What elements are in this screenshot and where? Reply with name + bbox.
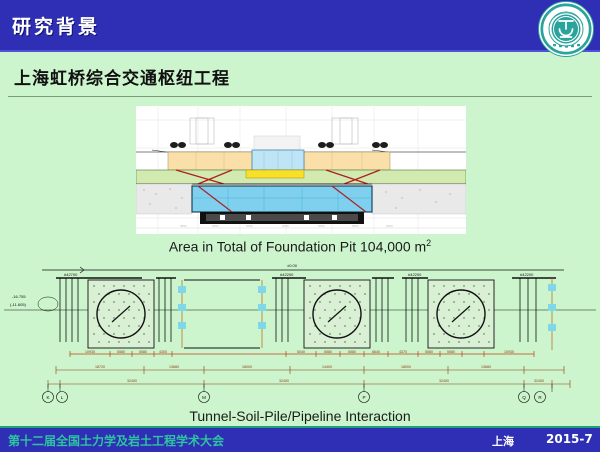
cad-dim-l2: 5580 <box>117 350 125 354</box>
cad-level-label: ±0.00 <box>287 263 298 268</box>
svg-text:6000: 6000 <box>386 224 393 228</box>
svg-text:4500: 4500 <box>180 224 187 228</box>
cad-grid-bubble-5: Q <box>522 395 526 400</box>
svg-text:6000: 6000 <box>318 224 325 228</box>
cad-dim-f4: 10935 <box>504 350 514 354</box>
svg-text:6000: 6000 <box>246 224 253 228</box>
title-divider <box>8 96 592 97</box>
cad-total-4: 32400 <box>534 379 544 383</box>
cad-grid-bubble-3: M <box>202 395 206 400</box>
cad-total-1: 32400 <box>127 379 137 383</box>
slide-heading: 上海虹桥综合交通枢纽工程 <box>14 64 230 89</box>
svg-text:6000: 6000 <box>282 224 289 228</box>
tunnel-soil-pile-cad-section: ±0.00 -16.755 (-11.605) #42700 <box>4 258 596 406</box>
cad-dim-f1: 4370 <box>399 350 407 354</box>
cad-wall-label-2: #42200 <box>280 272 294 277</box>
cad-dim-r4: 6640 <box>372 350 380 354</box>
cad-dim-l3: 5580 <box>139 350 147 354</box>
cad-wall-label-3: #42200 <box>408 272 422 277</box>
figure-caption-top: Area in Total of Foundation Pit 104,000 … <box>0 238 600 255</box>
svg-text:6000: 6000 <box>212 224 219 228</box>
cad-span-4: 14400 <box>322 365 332 369</box>
foundation-pit-cross-section-render: 45006000 60006000 60006000 6000 <box>136 106 466 234</box>
cad-dim-f2: 5580 <box>425 350 433 354</box>
slide-root: 研究背景 上海虹桥综合交通枢纽工程 <box>0 0 600 452</box>
caption-top-text: Area in Total of Foundation Pit 104,000 … <box>169 239 426 255</box>
svg-text:6000: 6000 <box>352 224 359 228</box>
cad-dim-l1: 10935 <box>85 350 95 354</box>
cad-dim-r2: 5580 <box>324 350 332 354</box>
cad-span-5: 18000 <box>401 365 411 369</box>
university-seal-icon <box>538 1 594 57</box>
cad-elevation-1: -16.755 <box>12 294 26 299</box>
cad-span-6: 13680 <box>481 365 491 369</box>
cad-span-1: 18720 <box>95 365 105 369</box>
cad-dim-f3: 5580 <box>447 350 455 354</box>
cad-total-3: 32400 <box>439 379 449 383</box>
figure-caption-bottom: Tunnel-Soil-Pile/Pipeline Interaction <box>0 408 600 424</box>
caption-top-superscript: 2 <box>426 238 431 248</box>
cad-span-2: 13680 <box>169 365 179 369</box>
page-title: 研究背景 <box>12 12 100 39</box>
footer-conference-name: 第十二届全国土力学及岩土工程学术大会 <box>8 432 224 449</box>
cad-grid-bubble-4: P <box>362 395 365 400</box>
cad-elevation-2: (-11.605) <box>10 302 27 307</box>
cad-dim-l4: 4300 <box>159 350 167 354</box>
footer-date: 2015-7 <box>546 432 593 446</box>
cad-span-3: 18000 <box>242 365 252 369</box>
footer-city: 上海 <box>492 433 514 449</box>
cad-grid-bubble-2: L <box>61 395 64 400</box>
cad-wall-label-1: #42700 <box>64 272 78 277</box>
cad-wall-label-4: #42200 <box>520 272 534 277</box>
cad-dim-r3: 5580 <box>348 350 356 354</box>
cad-dim-r1: 5040 <box>297 350 305 354</box>
cad-total-2: 32400 <box>279 379 289 383</box>
header-divider <box>0 50 600 52</box>
